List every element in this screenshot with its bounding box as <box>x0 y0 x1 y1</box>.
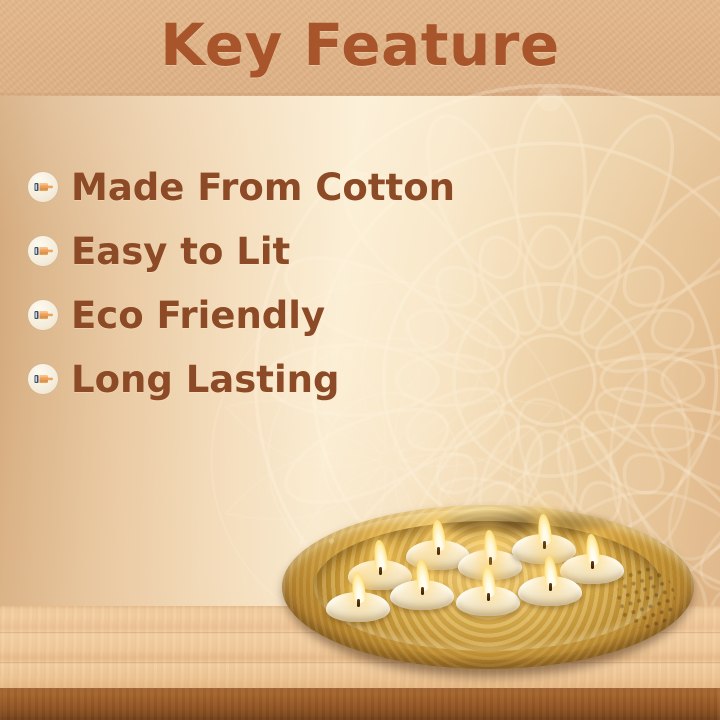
floating-candle <box>326 592 390 622</box>
floating-candle <box>456 586 520 616</box>
feature-label: Made From Cotton <box>71 169 455 206</box>
candle-wick <box>421 587 424 595</box>
list-item: Eco Friendly <box>28 283 648 347</box>
floating-candle <box>390 580 454 610</box>
list-item: Long Lasting <box>28 347 648 411</box>
candle-wick <box>379 567 382 575</box>
candle-wick <box>591 561 594 569</box>
feature-label: Long Lasting <box>71 361 339 398</box>
candle-wick <box>487 593 490 601</box>
pointing-right-hand-icon <box>28 172 58 202</box>
feature-label: Eco Friendly <box>71 297 325 334</box>
candle-wick <box>489 557 492 565</box>
pointing-right-hand-icon <box>28 364 58 394</box>
candle-wick <box>357 599 360 607</box>
list-item: Made From Cotton <box>28 155 648 219</box>
pointing-right-hand-icon <box>28 300 58 330</box>
wooden-table-edge <box>0 688 720 720</box>
feature-label: Easy to Lit <box>71 233 290 270</box>
key-feature-poster: Key Feature Made From Cotton <box>0 0 720 720</box>
list-item: Easy to Lit <box>28 219 648 283</box>
page-title: Key Feature <box>0 11 720 79</box>
candle-wick <box>543 541 546 549</box>
floating-candle <box>518 576 582 606</box>
candle-wick <box>437 547 440 555</box>
pointing-right-hand-icon <box>28 236 58 266</box>
candle-wick <box>549 583 552 591</box>
feature-list: Made From Cotton Easy to Lit <box>28 155 648 411</box>
